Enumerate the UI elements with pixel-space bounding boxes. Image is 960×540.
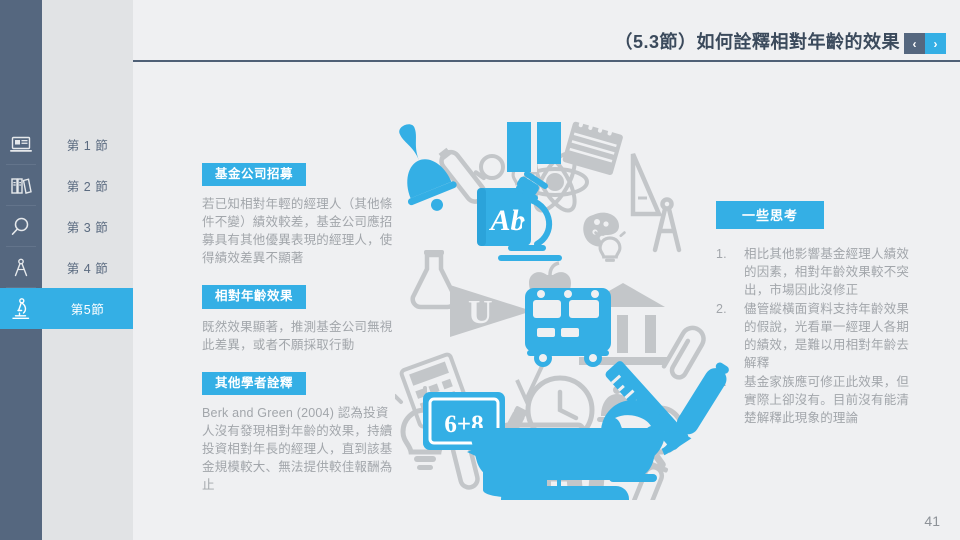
sidebar-item-label: 第 4 節 [42, 247, 133, 288]
notebook-icon [562, 115, 625, 175]
header-divider [133, 60, 960, 62]
badge-other-scholars: 其他學者詮釋 [202, 372, 306, 395]
sidebar-item-3[interactable]: 第 3 節 [0, 206, 133, 247]
page-title: （5.3節）如何詮釋相對年齡的效果 [614, 28, 900, 54]
page-number: 41 [924, 513, 940, 529]
paragraph-age-effect: 既然效果顯著，推測基金公司無視此差異，或者不願採取行動 [202, 318, 398, 354]
left-content-column: 基金公司招募 若已知相對年輕的經理人（其他條件不變）績效較差，基金公司應招募具有… [202, 163, 398, 494]
sidebar-nav: 第 1 節 第 2 [0, 124, 133, 329]
flask-icon [413, 250, 456, 307]
school-bus-icon [525, 288, 611, 367]
sidebar-item-1[interactable]: 第 1 節 [0, 124, 133, 165]
compass-icon [0, 247, 42, 288]
badge-age-effect: 相對年齡效果 [202, 285, 306, 308]
magnifier-icon [0, 206, 42, 247]
svg-text:U: U [468, 294, 493, 331]
paperclip-icon [663, 324, 708, 380]
paragraph-recruitment: 若已知相對年輕的經理人（其他條件不變）績效較差，基金公司應招募具有其他優異表現的… [202, 195, 398, 267]
sidebar-item-label: 第 2 節 [42, 165, 133, 206]
bell-icon [395, 115, 463, 220]
badge-recruitment: 基金公司招募 [202, 163, 306, 186]
list-item: 相比其他影響基金經理人績效的因素，相對年齡效果較不突出，市場因此沒修正 [716, 245, 916, 299]
sidebar-item-label: 第 3 節 [42, 206, 133, 247]
svg-text:Ab: Ab [488, 204, 525, 237]
paragraph-other-scholars: Berk and Green (2004) 認為投資人沒有發現相對年齡的效果，持… [202, 404, 398, 494]
right-content-column: 一些思考 相比其他影響基金經理人績效的因素，相對年齡效果較不突出，市場因此沒修正… [716, 201, 916, 428]
chevron-left-icon[interactable]: ‹ [904, 33, 925, 54]
education-icons-lightbulb: U [395, 110, 735, 500]
content-block-age-effect: 相對年齡效果 既然效果顯著，推測基金公司無視此差異，或者不願採取行動 [202, 285, 398, 353]
laptop-presentation-icon [0, 124, 42, 165]
triangle-ruler-icon [633, 154, 659, 214]
slide-nav-buttons: ‹ › [904, 33, 946, 54]
thoughts-list: 相比其他影響基金經理人績效的因素，相對年齡效果較不突出，市場因此沒修正 儘管縱橫… [716, 245, 916, 427]
pennant-icon: U [450, 285, 532, 337]
microscope-icon [0, 288, 42, 329]
list-item: 基金家族應可修正此效果，但實際上卻沒有。目前沒有能清楚解釋此現象的理論 [716, 373, 916, 427]
sidebar-item-4[interactable]: 第 4 節 [0, 247, 133, 288]
compass-icon [655, 200, 679, 251]
content-block-other-scholars: 其他學者詮釋 Berk and Green (2004) 認為投資人沒有發現相對… [202, 372, 398, 494]
check-icon [517, 364, 543, 400]
sidebar-item-label: 第5節 [42, 288, 133, 329]
list-item: 儘管縱橫面資料支持年齡效果的假說，光看單一經理人各期的績效，是難以用相對年齡去解… [716, 300, 916, 372]
content-block-recruitment: 基金公司招募 若已知相對年輕的經理人（其他條件不變）績效較差，基金公司應招募具有… [202, 163, 398, 267]
slide-root: 第 1 節 第 2 [0, 0, 960, 540]
sidebar-item-5[interactable]: 第5節 [0, 288, 133, 329]
books-icon [0, 165, 42, 206]
chevron-right-icon[interactable]: › [925, 33, 946, 54]
sidebar-item-2[interactable]: 第 2 節 [0, 165, 133, 206]
sidebar-item-label: 第 1 節 [42, 124, 133, 165]
